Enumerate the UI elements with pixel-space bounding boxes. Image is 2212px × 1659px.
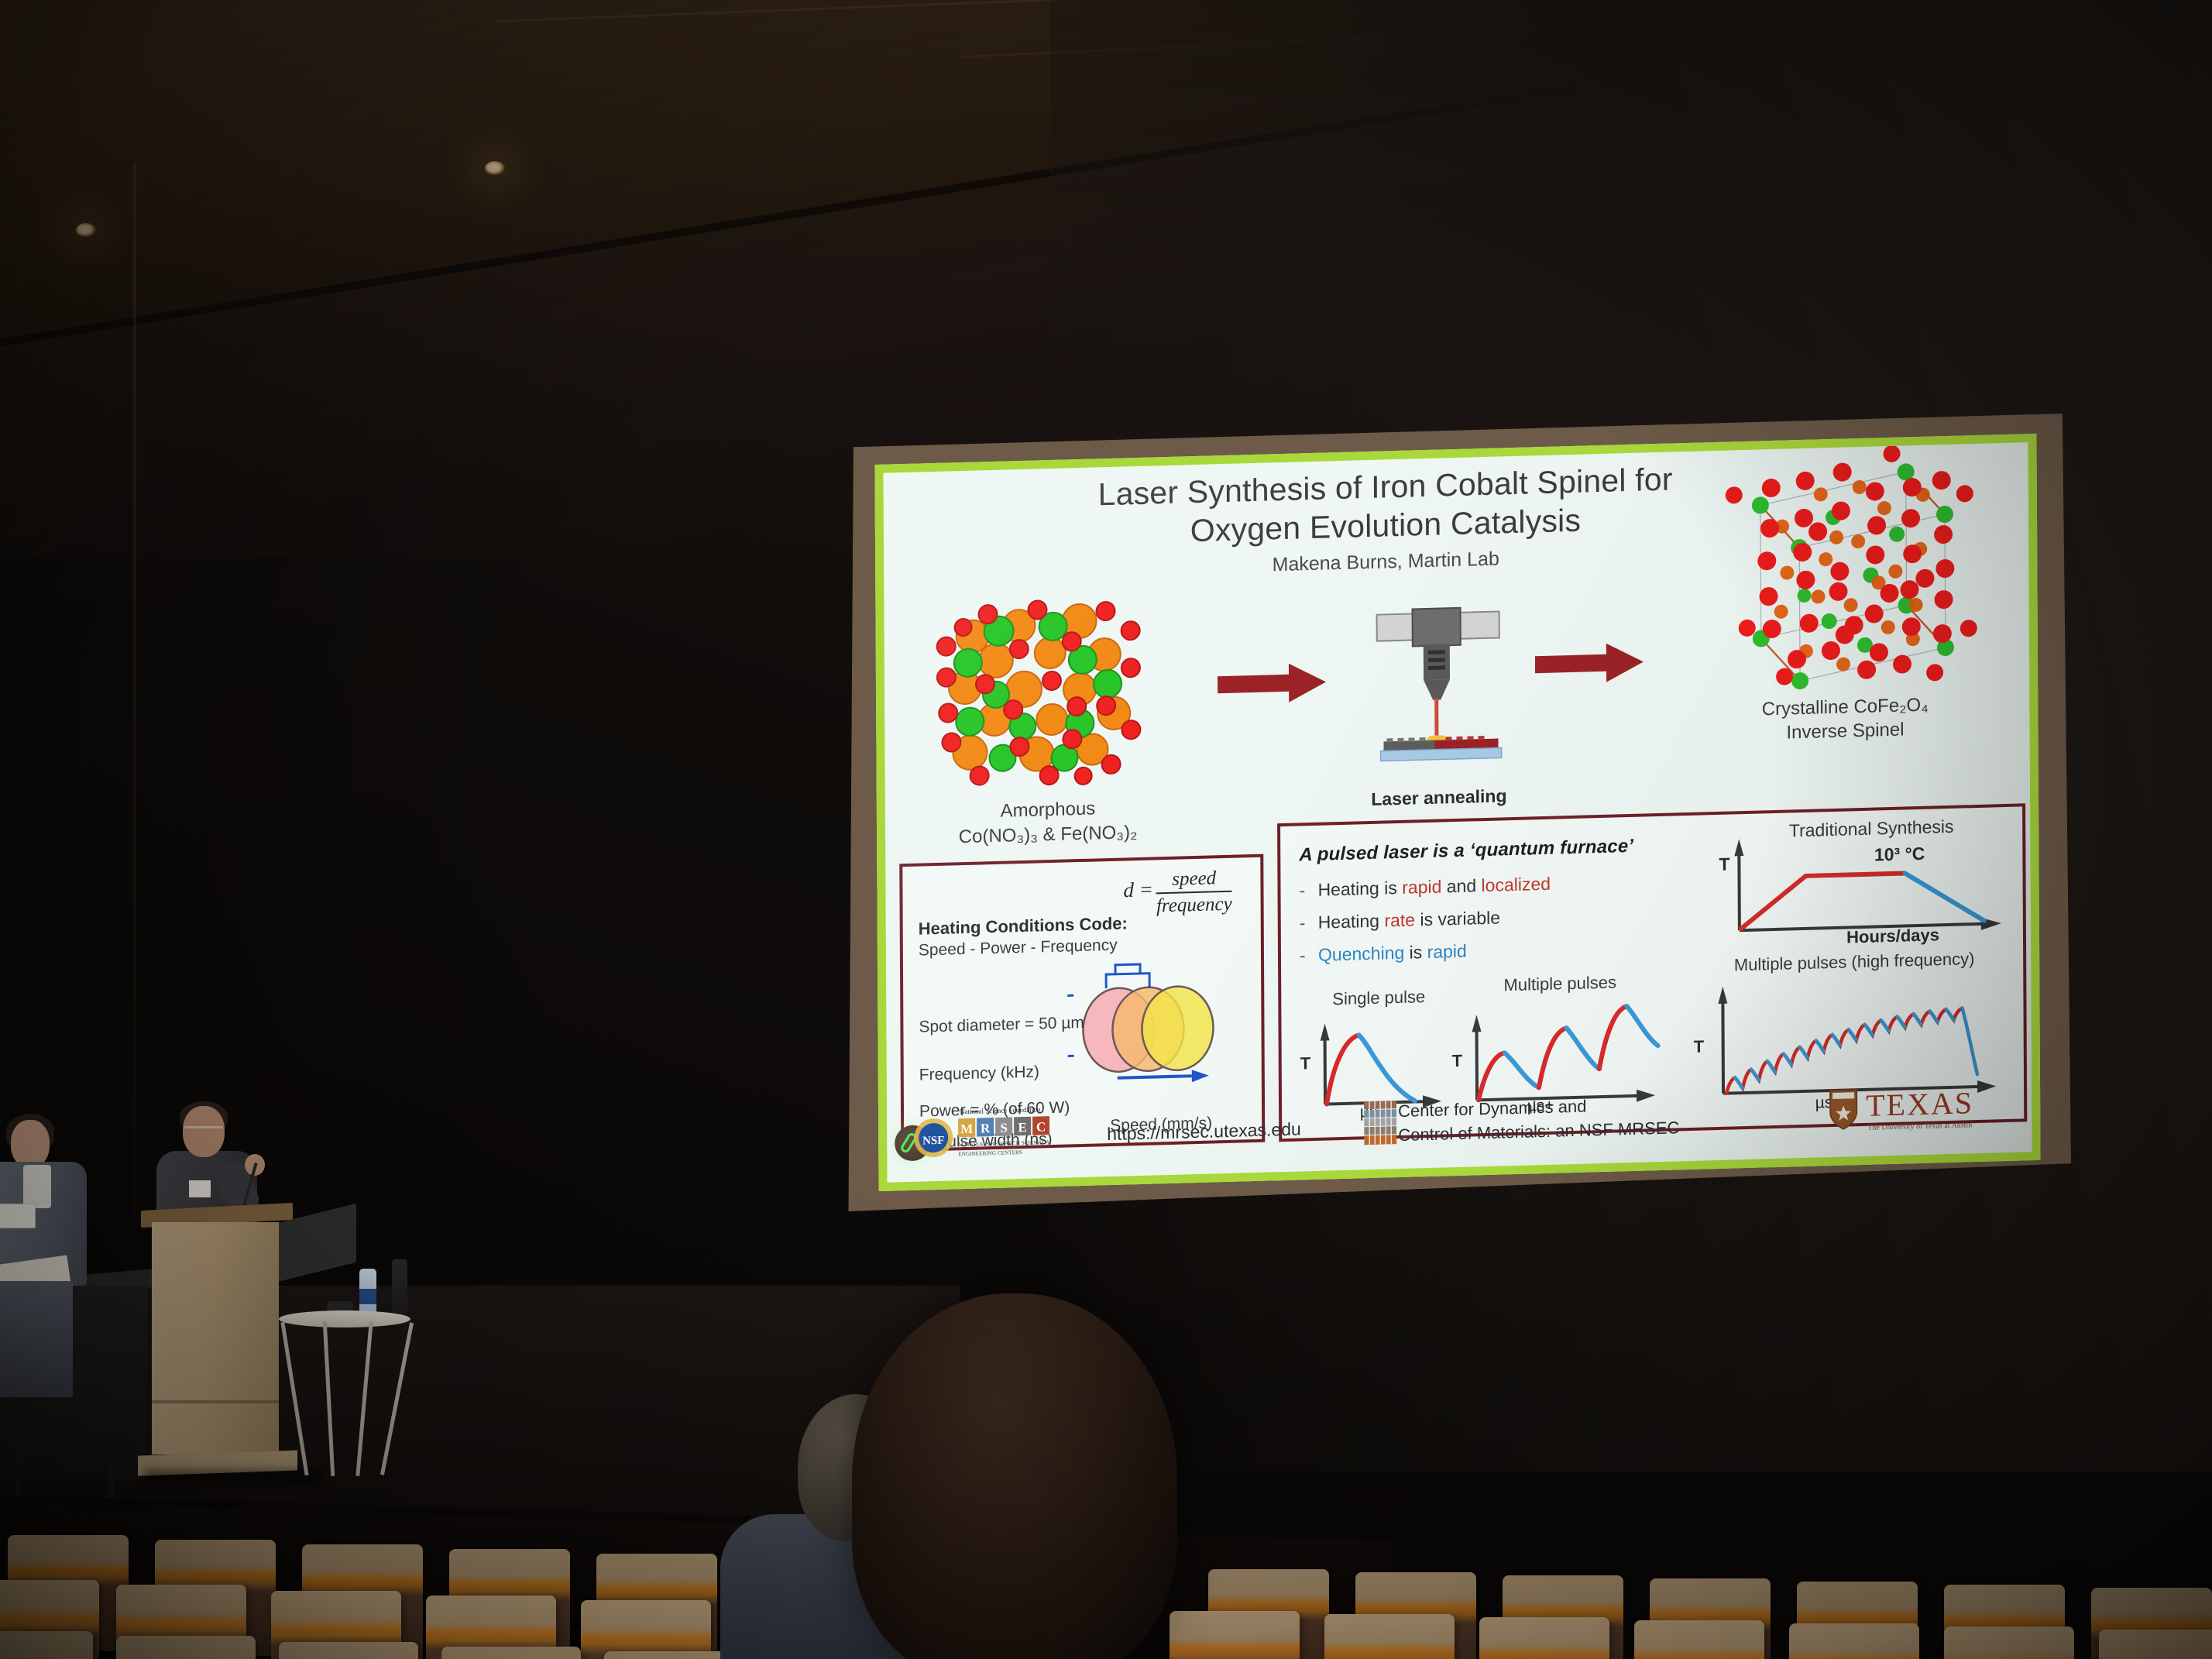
bullet-dash: - (1299, 880, 1317, 902)
person-standing-left (0, 1120, 107, 1352)
quantum-furnace-heading: A pulsed laser is a ‘quantum furnace’ (1299, 836, 1633, 867)
svg-text:NSF: NSF (922, 1135, 944, 1148)
svg-text:S: S (1000, 1121, 1008, 1135)
nsf-mrsec-logo: NSF National Science Foundation M R S E … (913, 1099, 1050, 1174)
texas-wordmark-text: TEXAS (1866, 1085, 1973, 1123)
equation-denominator: frequency (1156, 892, 1232, 918)
bullet-dash: - (1300, 912, 1318, 934)
svg-text:C: C (1036, 1119, 1046, 1134)
attendee-head-foreground (852, 1293, 1177, 1659)
shirt (23, 1165, 51, 1208)
auditorium-seat (116, 1636, 256, 1659)
table-leg (380, 1322, 414, 1475)
cdcm-text: Center for Dynamics and Control of Mater… (1398, 1091, 1679, 1147)
frequency-label: Frequency (kHz) (919, 1063, 1039, 1084)
amorphous-precursor-illustration (927, 596, 1160, 795)
laser-annealing-illustration (1365, 603, 1513, 774)
svg-text:ENGINEERING CENTERS: ENGINEERING CENTERS (958, 1149, 1022, 1157)
process-arrow-icon (1535, 641, 1644, 685)
texas-sub-text: The University of Texas at Austin (1867, 1121, 1972, 1132)
nsf-top-text: National Science Foundation (960, 1105, 1041, 1115)
head (11, 1120, 50, 1168)
podium-seam (152, 1400, 279, 1403)
presentation-slide: Laser Synthesis of Iron Cobalt Spinel fo… (874, 434, 2040, 1191)
podium (152, 1207, 279, 1479)
laser-annealing-label: Laser annealing (1342, 785, 1536, 811)
spot-overlap-diagram (1067, 943, 1254, 1094)
equation-numerator: speed (1156, 867, 1232, 895)
auditorium-seat (581, 1600, 711, 1659)
bullet-dash: - (1300, 945, 1318, 967)
auditorium-seat (441, 1647, 581, 1659)
auditorium-seat (1170, 1611, 1300, 1659)
svg-text:R: R (981, 1121, 991, 1135)
auditorium-photo: Laser Synthesis of Iron Cobalt Spinel fo… (0, 0, 2212, 1659)
svg-text:M: M (960, 1121, 973, 1136)
table-leg (323, 1321, 335, 1476)
auditorium-seat (1944, 1626, 2074, 1659)
table-leg (355, 1321, 373, 1476)
auditorium-seat (1479, 1617, 1609, 1659)
auditorium-seat (1789, 1623, 1919, 1659)
name-badge (0, 1204, 36, 1228)
process-arrow-icon (1218, 661, 1326, 706)
crystal-lattice-illustration (1712, 439, 1984, 694)
svg-text:E: E (1018, 1120, 1026, 1135)
spot-diameter-label: Spot diameter = 50 µm (919, 1014, 1084, 1037)
slide-title: Laser Synthesis of Iron Cobalt Spinel fo… (998, 457, 1774, 555)
auditorium-seat (1634, 1620, 1764, 1659)
auditorium-seat (1324, 1614, 1455, 1659)
bullet-heating-rate: -Heating rate is variable (1300, 907, 1500, 933)
auditorium-seat (0, 1631, 93, 1659)
ut-austin-logo: TEXAS The University of Texas at Austin (1827, 1081, 2005, 1142)
traditional-synthesis-xlabel: Hours/days (1846, 925, 1939, 947)
table-leg (280, 1322, 308, 1475)
crystalline-label: Crystalline CoFe₂O₄ Inverse Spinel (1698, 691, 1992, 747)
water-bottle (359, 1269, 376, 1315)
equation-lhs: d = (1123, 878, 1153, 902)
svg-text:T: T (1719, 854, 1729, 874)
bullet-quenching: -Quenching is rapid (1300, 941, 1467, 967)
name-badge (189, 1180, 211, 1197)
mrsec-url[interactable]: https://mrsec.utexas.edu (1107, 1118, 1301, 1145)
side-table (279, 1310, 410, 1481)
auditorium-seat (2099, 1630, 2212, 1659)
spacing-equation: d = speed frequency (1096, 867, 1259, 919)
svg-text:MATERIALS RESEARCH SCIENCE AND: MATERIALS RESEARCH SCIENCE AND (958, 1139, 1049, 1148)
amorphous-label: Amorphous Co(NO₃)₃ & Fe(NO₃)₂ (908, 794, 1187, 850)
cdcm-logo-icon (1364, 1101, 1396, 1146)
table-top (279, 1310, 410, 1328)
podium-body (152, 1222, 279, 1455)
wall-seam (133, 163, 136, 1216)
auditorium-seat (279, 1642, 418, 1659)
glasses (184, 1126, 223, 1135)
thermos (392, 1259, 407, 1315)
bullet-heating-rapid: -Heating is rapid and localized (1299, 874, 1551, 902)
legs (0, 1281, 73, 1397)
projection-screen: Laser Synthesis of Iron Cobalt Spinel fo… (841, 414, 2071, 1211)
